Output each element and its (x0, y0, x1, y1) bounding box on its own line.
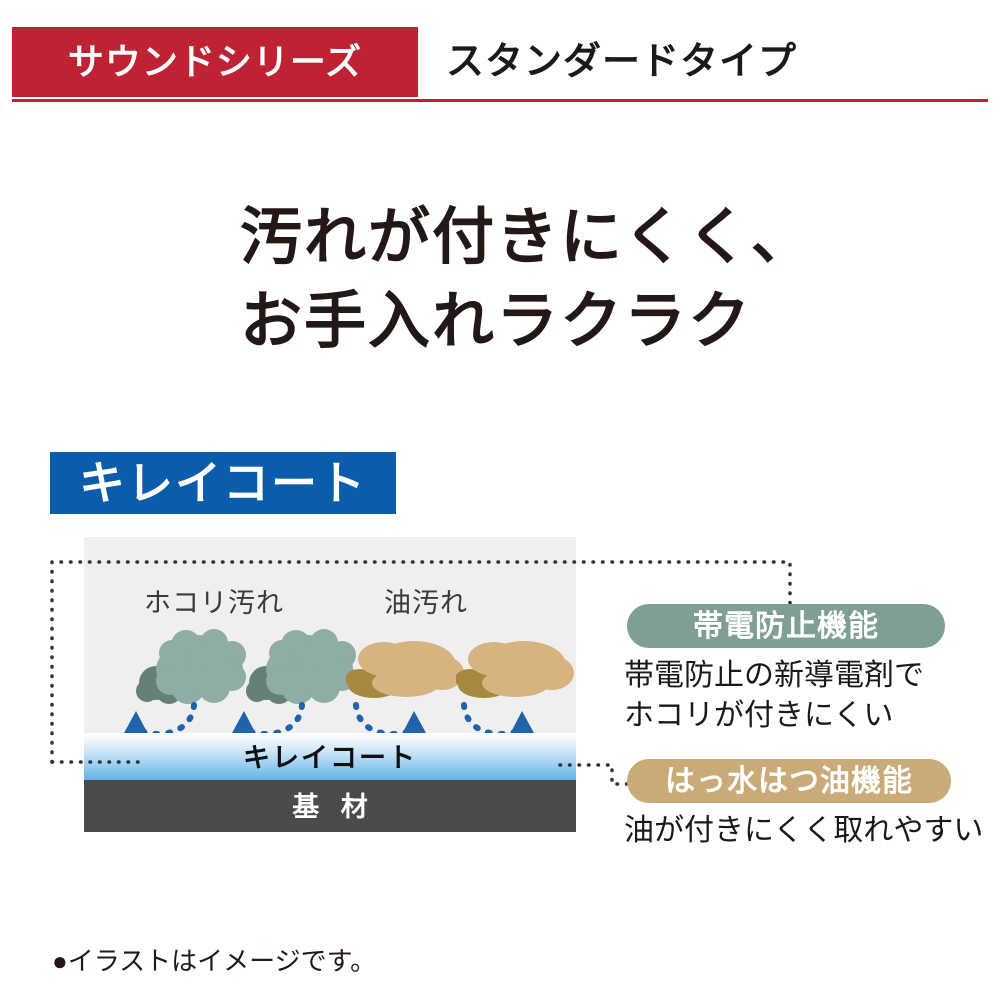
callout-description-oil-repellent: 油が付きにくく取れやすい (624, 811, 983, 851)
diagram-oil-soil-label: 油汚れ (384, 581, 468, 620)
diagram-dust-soil-label: ホコリ汚れ (144, 581, 284, 620)
page-title-line-1: 汚れが付きにくく、 (240, 196, 960, 280)
callout-pill-antistatic: 帯電防止機能 (627, 604, 945, 648)
diagram-base-layer-label: 基 材 (84, 780, 576, 832)
series-tag-label: サウンドシリーズ (12, 27, 418, 97)
kirei-coat-badge: キレイコート (50, 452, 396, 514)
page-title-line-2: お手入れラクラク (240, 280, 960, 364)
callout-pill-oil-repellent: はっ水はつ油機能 (627, 759, 951, 803)
coating-cross-section-diagram: ホコリ汚れ 油汚れ (84, 537, 576, 832)
header-divider-rule (12, 99, 988, 102)
illustration-disclaimer-footnote: ●イラストはイメージです。 (52, 941, 376, 978)
product-type-label: スタンダードタイプ (446, 27, 797, 97)
page-header: サウンドシリーズ スタンダードタイプ (0, 0, 1000, 120)
callout-description-antistatic: 帯電防止の新導電剤で ホコリが付きにくい (624, 656, 924, 736)
page-title: 汚れが付きにくく、 お手入れラクラク (240, 196, 960, 364)
callout-antistatic-desc-line-1: 帯電防止の新導電剤で (624, 656, 924, 696)
kirei-coat-badge-label: キレイコート (50, 452, 396, 514)
callout-antistatic-desc-line-2: ホコリが付きにくい (624, 696, 924, 736)
callout-oilrepel-desc-line-1: 油が付きにくく取れやすい (624, 811, 983, 851)
diagram-coat-layer-label: キレイコート (84, 733, 576, 780)
